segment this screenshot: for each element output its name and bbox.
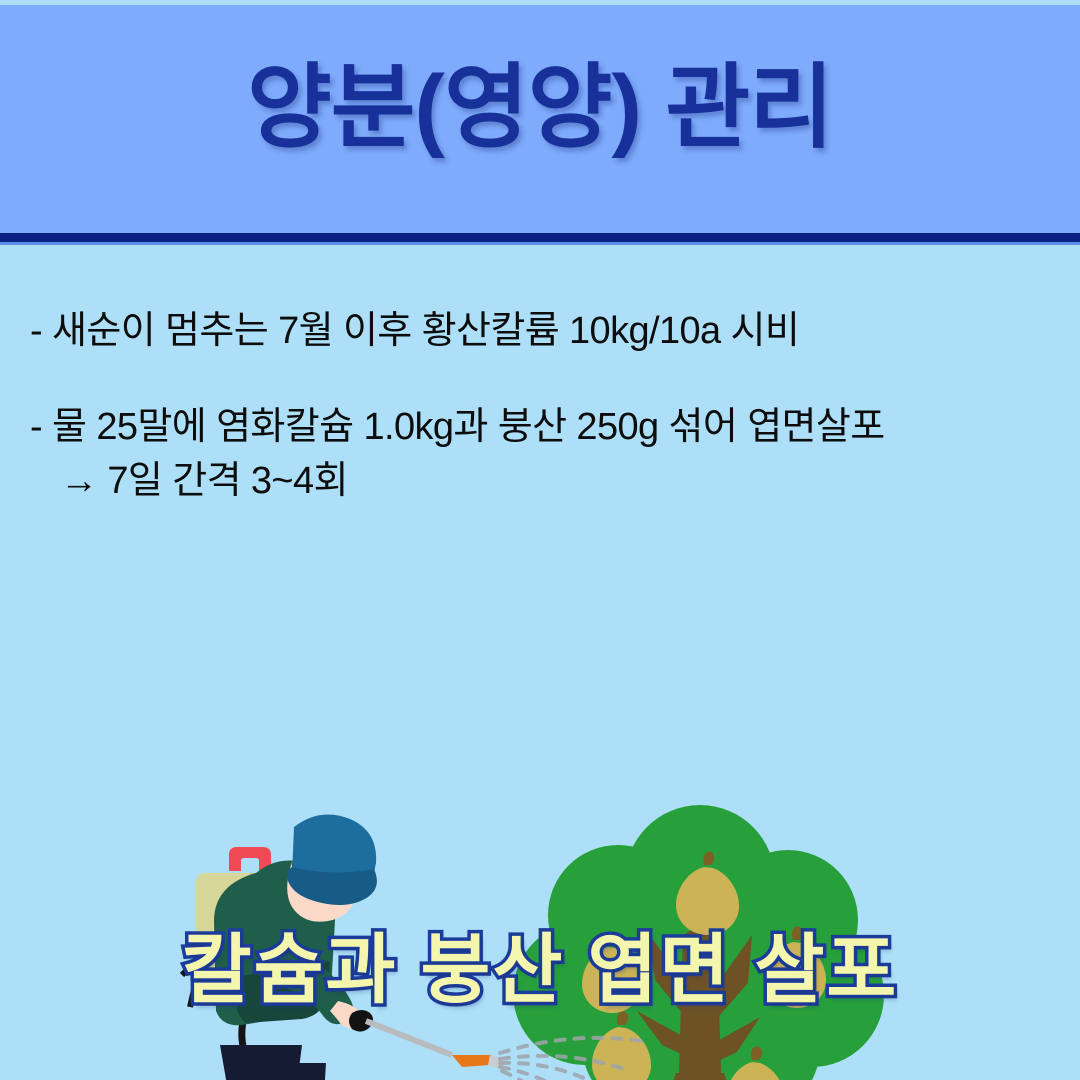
header-divider-bar bbox=[0, 233, 1080, 242]
header-band: 양분(영양) 관리 bbox=[0, 5, 1080, 233]
caption-area: 칼슘과 붕산 엽면 살포 bbox=[0, 925, 1080, 1035]
page-title: 양분(영양) 관리 bbox=[0, 51, 1080, 166]
bullet-list: - 새순이 멈추는 7월 이후 황산칼륨 10kg/10a 시비 - 물 25말… bbox=[30, 305, 1050, 509]
bullet-subtext: → 7일 간격 3~4회 bbox=[30, 455, 1050, 509]
farmer-head bbox=[287, 815, 377, 922]
farmer-near-leg bbox=[220, 1045, 302, 1080]
bullet-item: - 물 25말에 염화칼슘 1.0kg과 붕산 250g 섞어 엽면살포 → 7… bbox=[30, 401, 1050, 509]
bottom-caption: 칼슘과 붕산 엽면 살포 bbox=[182, 925, 899, 1016]
poster-root: 양분(영양) 관리 - 새순이 멈추는 7월 이후 황산칼륨 10kg/10a … bbox=[0, 0, 1080, 1080]
bullet-text: - 물 25말에 염화칼슘 1.0kg과 붕산 250g 섞어 엽면살포 bbox=[30, 406, 885, 448]
spray-nozzle bbox=[452, 1055, 492, 1067]
bullet-text: - 새순이 멈추는 7월 이후 황산칼륨 10kg/10a 시비 bbox=[30, 310, 799, 352]
farmer-hat bbox=[292, 815, 376, 876]
bullet-item: - 새순이 멈추는 7월 이후 황산칼륨 10kg/10a 시비 bbox=[30, 305, 1050, 359]
